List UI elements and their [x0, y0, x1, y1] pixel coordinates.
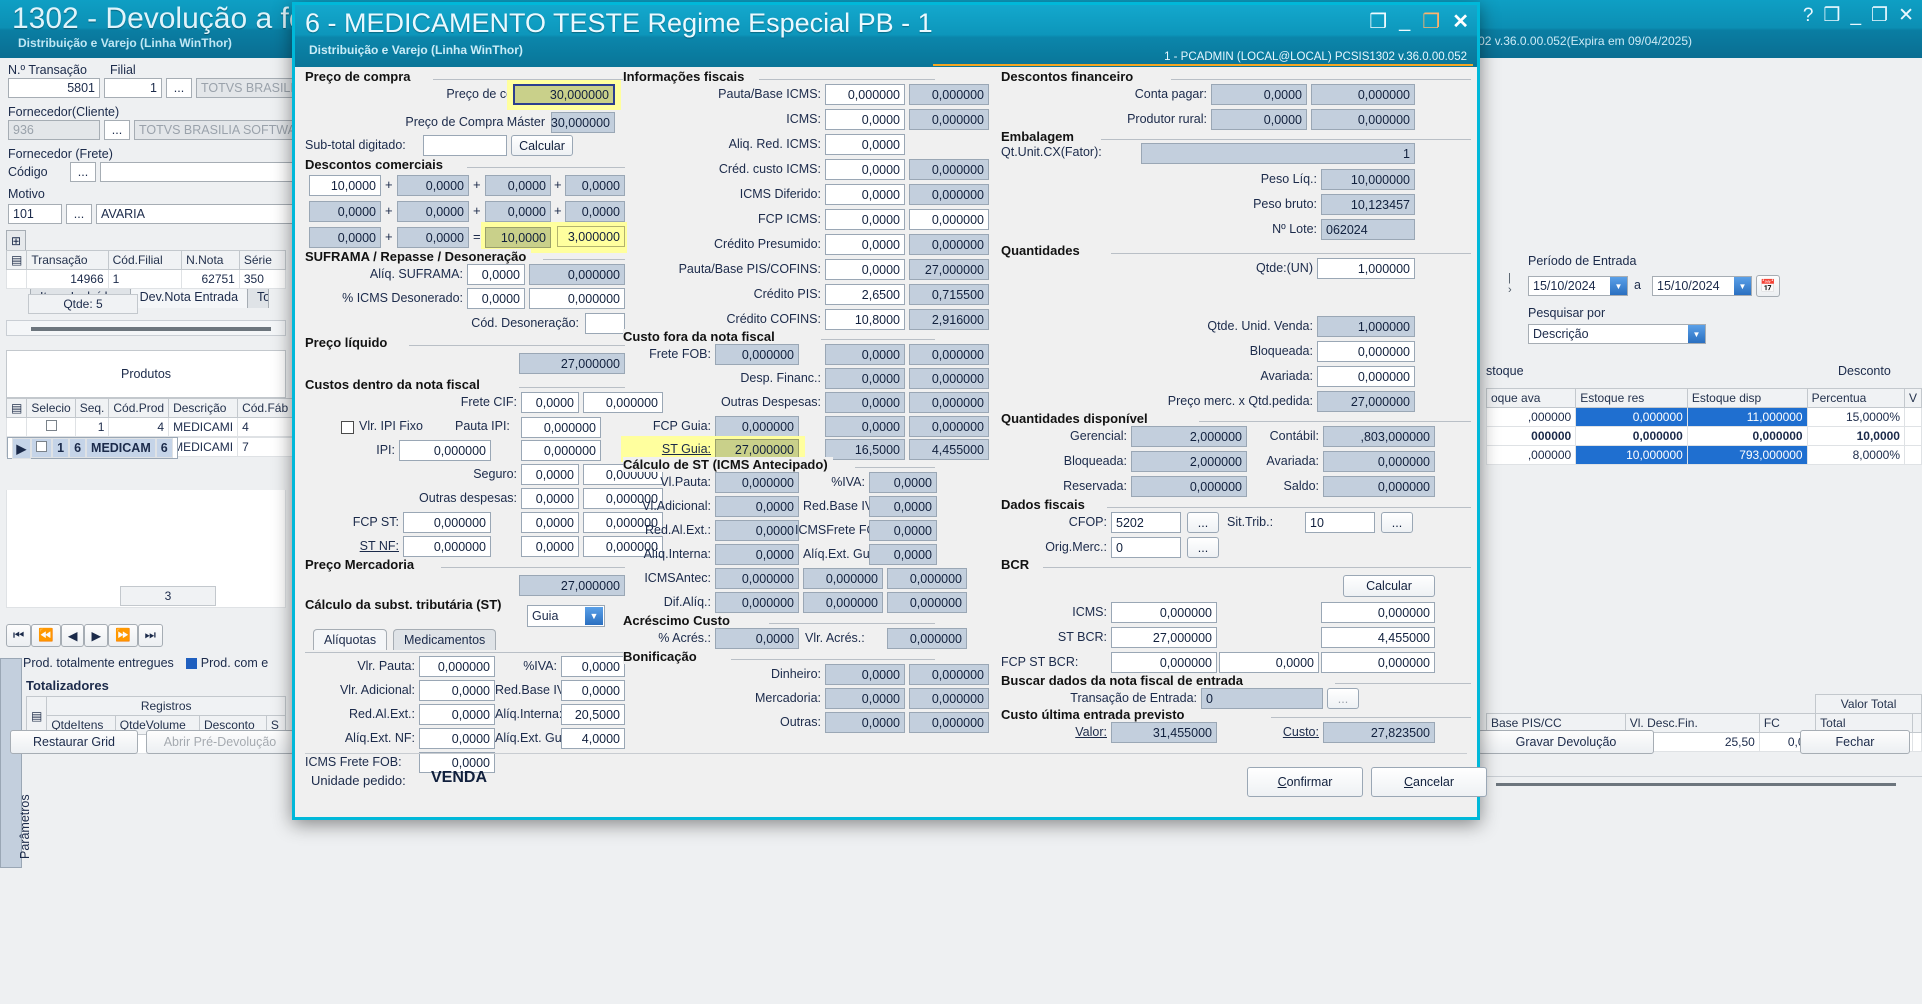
- table-row[interactable]: ,000000 10,000000 793,000000 8,0000%: [1487, 446, 1922, 465]
- transacao-entrada-label: Transação de Entrada:: [1001, 691, 1197, 705]
- if-v2-7: 27,000000: [909, 259, 989, 280]
- estoque-group-label: stoque: [1486, 364, 1524, 378]
- cell-descricao: MEDICAM: [86, 438, 156, 458]
- close-icon[interactable]: ✕: [1898, 4, 1914, 27]
- if-v1-2[interactable]: 0,0000: [825, 134, 905, 155]
- nota-grid[interactable]: ▤ Transação Cód.Filial N.Nota Série 1496…: [6, 250, 286, 289]
- cell-estoque-ava: ,000000: [1487, 446, 1576, 465]
- icmsantec-v2: 0,000000: [803, 568, 883, 589]
- table-header-row: Valor Total: [1487, 695, 1922, 714]
- tab-medicamentos[interactable]: Medicamentos: [393, 629, 496, 650]
- pesquisar-por-select[interactable]: Descrição: [1528, 324, 1706, 344]
- ipi-v1[interactable]: 0,000000: [399, 440, 491, 461]
- cell-cod-prod: 6: [69, 438, 86, 458]
- desconto-3-2: 0,0000: [397, 227, 469, 248]
- produtos-grid[interactable]: ▤ Selecio Seq. Cód.Prod Descrição Cód.Fá…: [6, 398, 293, 457]
- restaurar-grid-button[interactable]: Restaurar Grid: [10, 730, 138, 754]
- frete-fob-label: Frete FOB:: [623, 347, 711, 361]
- dif-aliq-v2: 0,000000: [803, 592, 883, 613]
- vl-adicional-value: 0,0000: [715, 496, 799, 517]
- title-underline: [933, 64, 1473, 66]
- st-guia-label[interactable]: ST Guia:: [627, 442, 711, 456]
- desconto-3-4: 3,000000: [557, 226, 625, 247]
- if-v2-0: 0,000000: [909, 84, 989, 105]
- st-guia-v3: 4,455000: [909, 439, 989, 460]
- cfop-lookup-button[interactable]: ...: [1187, 512, 1219, 533]
- modal-title: 6 - MEDICAMENTO TESTE Regime Especial PB…: [305, 8, 933, 39]
- plus-sign: +: [385, 229, 393, 244]
- confirmar-button[interactable]: Confirmar: [1247, 767, 1363, 797]
- preco-liquido-value: 27,000000: [519, 353, 625, 374]
- modal-body: Preço de compra Preço de compra: 30,0000…: [295, 67, 1477, 817]
- desconto-3-3: 10,0000: [485, 227, 551, 248]
- background-window-buttons: ? ❒ _ ❐ ✕: [1803, 4, 1914, 27]
- if-label-3: Créd. custo ICMS:: [623, 162, 821, 176]
- cell-estoque-disp: 793,000000: [1687, 446, 1807, 465]
- grid-menu-icon[interactable]: ⊞: [6, 230, 26, 252]
- table-row[interactable]: ▶ 1 6 MEDICAM 6: [7, 437, 178, 459]
- col-registros: Registros: [47, 697, 286, 716]
- if-label-4: ICMS Diferido:: [623, 187, 821, 201]
- codigo-label: Código: [8, 164, 48, 179]
- cell-n-nota: 62751: [182, 270, 240, 289]
- peso-liq-label: Peso Líq.:: [1155, 172, 1317, 186]
- dinheiro-label: Dinheiro:: [665, 667, 821, 681]
- if-v2-8: 0,715500: [909, 284, 989, 305]
- table-row[interactable]: 1 4 MEDICAMI 4: [7, 418, 293, 437]
- product-detail-modal: 6 - MEDICAMENTO TESTE Regime Especial PB…: [292, 2, 1480, 820]
- qt-unit-cx-value: 1: [1141, 143, 1415, 164]
- nota-qtde-label: Qtde: 5: [28, 294, 138, 314]
- desconto-2-3: 0,0000: [485, 201, 551, 222]
- if-v2-5[interactable]: 0,000000: [909, 209, 989, 230]
- outras-despesas-fora-label: Outras Despesas:: [655, 395, 821, 409]
- if-v2-1: 0,000000: [909, 109, 989, 130]
- plus-sign: +: [473, 177, 481, 192]
- bcr-fcp-st-v1[interactable]: 0,000000: [1111, 652, 1217, 673]
- outras-bonif-v1: 0,0000: [825, 712, 905, 733]
- periodo-from-dropdown-icon[interactable]: ▼: [1610, 277, 1627, 295]
- qd-avariada-value: 0,000000: [1323, 451, 1435, 472]
- iva-antec-label: %IVA:: [803, 475, 865, 489]
- row-handle-header: ▤: [27, 697, 47, 735]
- if-v1-9[interactable]: 10,8000: [825, 309, 905, 330]
- dinheiro-v1: 0,0000: [825, 664, 905, 685]
- cell-checkbox[interactable]: [31, 438, 52, 458]
- cell-checkbox[interactable]: [27, 418, 75, 437]
- if-v1-3[interactable]: 0,0000: [825, 159, 905, 180]
- aliq-interna-label: Alíq.Interna:: [495, 707, 562, 721]
- filial-field[interactable]: 1: [104, 78, 162, 98]
- vlr-acres-label: Vlr. Acrés.:: [805, 631, 865, 645]
- col-extra: [1913, 714, 1922, 733]
- icmsantec-label: ICMSAntec:: [613, 571, 711, 585]
- fechar-button[interactable]: Fechar: [1800, 730, 1910, 754]
- cell-extra: [1913, 733, 1922, 752]
- col-serie[interactable]: Série: [239, 251, 285, 270]
- cell-cod-fab: 6: [156, 438, 173, 458]
- aliq-ext-guia-value[interactable]: 4,0000: [561, 728, 625, 749]
- orig-merc-input[interactable]: 0: [1111, 537, 1181, 558]
- peso-liq-value: 10,000000: [1321, 169, 1415, 190]
- frete-cif-v1[interactable]: 0,0000: [521, 392, 579, 413]
- outras-despesas-label: Outras despesas:: [337, 491, 517, 505]
- bcr-icms-v1[interactable]: 0,000000: [1111, 602, 1217, 623]
- red-al-ext-label: Red.Al.Ext.:: [305, 707, 415, 721]
- col-v[interactable]: V: [1904, 389, 1921, 408]
- desconto-1-1[interactable]: 10,0000: [309, 175, 381, 196]
- motivo-field[interactable]: 101: [8, 204, 62, 224]
- st-guia-v2: 16,5000: [825, 439, 905, 460]
- produtor-rural-label: Produtor rural:: [1011, 112, 1207, 126]
- if-label-2: Aliq. Red. ICMS:: [623, 137, 821, 151]
- row-handle: [7, 270, 27, 289]
- vl-pauta-value: 0,000000: [715, 472, 799, 493]
- plus-sign: +: [385, 177, 393, 192]
- qd-saldo-label: Saldo:: [1251, 479, 1319, 493]
- fcp-guia-v3: 0,000000: [909, 416, 989, 437]
- fcp-st-v1[interactable]: 0,000000: [403, 512, 491, 533]
- calcular-subtotal-button[interactable]: Calcular: [511, 135, 573, 156]
- sidebar-tab-parametros[interactable]: Parâmetros: [0, 658, 22, 868]
- bcr-fcp-st-v2[interactable]: 0,0000: [1219, 652, 1319, 673]
- help-icon[interactable]: ?: [1803, 5, 1814, 27]
- desconto-3-1: 0,0000: [309, 227, 381, 248]
- outras-bonif-label: Outras:: [665, 715, 821, 729]
- if-v1-4[interactable]: 0,0000: [825, 184, 905, 205]
- cfop-label: CFOP:: [1001, 515, 1107, 529]
- n-lote-value: 062024: [1321, 219, 1415, 240]
- produtor-rural-v2: 0,000000: [1311, 109, 1415, 130]
- custo-valor-label[interactable]: Valor:: [1001, 725, 1107, 739]
- motivo-label: Motivo: [8, 186, 45, 201]
- vlr-adicional-label: Vlr. Adicional:: [305, 683, 415, 697]
- table-header-row: ▤ Transação Cód.Filial N.Nota Série: [7, 251, 286, 270]
- maximize-icon[interactable]: ❐: [1871, 4, 1888, 27]
- st-nf-v1[interactable]: 0,000000: [403, 536, 491, 557]
- custo-custo-label[interactable]: Custo:: [1225, 725, 1319, 739]
- bcr-icms-label: ICMS:: [1001, 605, 1107, 619]
- periodo-a-label: a: [1634, 278, 1641, 292]
- icms-desonerado-v2[interactable]: 0,000000: [529, 288, 625, 309]
- aliq-suframa-v2: 0,000000: [529, 264, 625, 285]
- background-window-subtitle: Distribuição e Varejo (Linha WinThor): [18, 36, 232, 50]
- red-al-ext-antec-label: Red.Al.Ext.:: [623, 523, 711, 537]
- seguro-v1[interactable]: 0,0000: [521, 464, 579, 485]
- red-al-ext-antec-value: 0,0000: [715, 520, 799, 541]
- col-estoque-disp[interactable]: Estoque disp: [1687, 389, 1807, 408]
- modal-status-right: 1 - PCADMIN (LOCAL@LOCAL) PCSIS1302 v.36…: [1164, 51, 1467, 63]
- pesquisar-por-dropdown-icon[interactable]: ▼: [1688, 325, 1705, 343]
- iva-antec-value: 0,0000: [869, 472, 937, 493]
- cell-descricao: MEDICAMI: [169, 418, 238, 437]
- aliq-ext-nf-value[interactable]: 0,0000: [419, 728, 495, 749]
- if-label-6: Crédito Presumido:: [623, 237, 821, 251]
- if-v1-7[interactable]: 0,0000: [825, 259, 905, 280]
- bcr-st-v2[interactable]: 4,455000: [1321, 627, 1435, 648]
- col-seq[interactable]: Seq.: [75, 399, 109, 418]
- cell-seq: 1: [52, 438, 69, 458]
- qd-saldo-value: 0,000000: [1323, 476, 1435, 497]
- red-al-ext-value[interactable]: 0,0000: [419, 704, 495, 725]
- row-handle-header: ▤: [7, 399, 27, 418]
- cell-estoque-disp: 11,000000: [1687, 408, 1807, 427]
- col-percentual[interactable]: Percentua: [1807, 389, 1904, 408]
- col-cod-prod[interactable]: Cód.Prod: [109, 399, 169, 418]
- icmsantec-v3: 0,000000: [887, 568, 967, 589]
- row-handle: [7, 418, 27, 437]
- if-v1-1[interactable]: 0,0000: [825, 109, 905, 130]
- modal-subtitle: Distribuição e Varejo (Linha WinThor): [309, 43, 523, 57]
- if-label-9: Crédito COFINS:: [623, 312, 821, 326]
- footer-divider: [305, 753, 1467, 754]
- transacao-entrada-input[interactable]: 0: [1201, 688, 1323, 709]
- vlr-pauta-label: Vlr. Pauta:: [305, 659, 415, 673]
- equals-sign: =: [473, 229, 481, 244]
- qtde-un-input[interactable]: 1,000000: [1317, 258, 1415, 279]
- pauta-ipi-value[interactable]: 0,000000: [521, 417, 601, 438]
- tab-totalizadores[interactable]: Totalizadores: [247, 286, 269, 308]
- frete-cif-v2[interactable]: 0,000000: [583, 392, 663, 413]
- totalizadores-title: Totalizadores: [26, 678, 109, 693]
- row-handle: ▶: [12, 438, 32, 459]
- plus-sign: +: [473, 203, 481, 218]
- abrir-pre-devolucao-button[interactable]: Abrir Pré-Devolução: [146, 730, 294, 754]
- custo-custo-value: 27,823500: [1323, 722, 1435, 743]
- qd-reservada-value: 0,000000: [1131, 476, 1247, 497]
- pesquisar-por-label: Pesquisar por: [1528, 306, 1605, 320]
- vlr-pauta-value[interactable]: 0,000000: [419, 656, 495, 677]
- icms-desonerado-v1[interactable]: 0,0000: [467, 288, 525, 309]
- sit-trib-lookup-button[interactable]: ...: [1381, 512, 1413, 533]
- if-v1-8[interactable]: 2,6500: [825, 284, 905, 305]
- nav-next-page-button[interactable]: ⏩: [108, 624, 138, 647]
- cell-percentual: 10,0000: [1807, 427, 1904, 446]
- qtde-un-label: Qtde:(UN): [1175, 261, 1313, 275]
- qd-gerencial-label: Gerencial:: [1001, 429, 1127, 443]
- col-estoque-res[interactable]: Estoque res: [1576, 389, 1688, 408]
- preco-compra-master-value: 30,000000: [551, 112, 615, 133]
- nota-scrollbar[interactable]: [6, 320, 286, 336]
- filial-label: Filial: [110, 62, 136, 77]
- maximize-icon[interactable]: ❐: [1422, 9, 1440, 34]
- motivo-lookup-button[interactable]: ...: [66, 204, 92, 224]
- orig-merc-label: Orig.Merc.:: [1001, 540, 1107, 554]
- desconto-1-3: 0,0000: [485, 175, 551, 196]
- col-estoque-ava[interactable]: oque ava: [1487, 389, 1576, 408]
- col-cod-fab[interactable]: Cód.Fáb: [238, 399, 293, 418]
- restore-icon[interactable]: ❒: [1369, 9, 1387, 34]
- fcp-st-v2[interactable]: 0,0000: [521, 512, 579, 533]
- legend-blue-swatch: [186, 658, 197, 669]
- col-valor-total-group: Valor Total: [1816, 695, 1922, 714]
- cell-estoque-disp: 0,000000: [1687, 427, 1807, 446]
- peso-bruto-value: 10,123457: [1321, 194, 1415, 215]
- calendar-icon[interactable]: 📅: [1756, 275, 1780, 297]
- cell-percentual: 15,0000%: [1807, 408, 1904, 427]
- sit-trib-input[interactable]: 10: [1305, 512, 1375, 533]
- record-navigator[interactable]: ⏮ ⏪ ◀ ▶ ⏩ ⏭: [6, 624, 163, 647]
- ntransacao-field[interactable]: 5801: [8, 78, 100, 98]
- frete-fob-v1: 0,000000: [715, 344, 799, 365]
- desp-financ-v2: 0,000000: [909, 368, 989, 389]
- produtos-header: Produtos: [6, 350, 286, 398]
- qd-bloqueada-value: 2,000000: [1131, 451, 1247, 472]
- n-lote-label: Nº Lote:: [1155, 222, 1317, 236]
- subtotal-label: Sub-total digitado:: [305, 138, 406, 152]
- qd-avariada-label: Avariada:: [1251, 454, 1319, 468]
- acres-label: % Acrés.:: [623, 631, 711, 645]
- table-header-row: ▤ Selecio Seq. Cód.Prod Descrição Cód.Fá…: [7, 399, 293, 418]
- calculo-st-select[interactable]: Guia ▼: [527, 605, 605, 627]
- vlr-acres-value: 0,000000: [887, 628, 967, 649]
- plus-sign: +: [554, 203, 562, 218]
- nav-prev-page-button[interactable]: ⏪: [31, 624, 61, 647]
- preco-compra-input[interactable]: 30,000000: [513, 84, 615, 105]
- qd-reservada-label: Reservada:: [1001, 479, 1127, 493]
- table-row[interactable]: ,000000 0,000000 11,000000 15,0000%: [1487, 408, 1922, 427]
- minimize-icon[interactable]: _: [1850, 5, 1861, 27]
- iva-value[interactable]: 0,0000: [561, 656, 625, 677]
- frete-cif-label: Frete CIF:: [355, 395, 517, 409]
- nav-first-button[interactable]: ⏮: [6, 624, 31, 647]
- aliq-suframa-v1[interactable]: 0,0000: [467, 264, 525, 285]
- mercadoria-label: Mercadoria:: [665, 691, 821, 705]
- red-base-iva-antec-value: 0,0000: [869, 496, 937, 517]
- if-label-5: FCP ICMS:: [623, 212, 821, 226]
- aliq-suframa-label: Alíq. SUFRAMA:: [315, 267, 463, 281]
- cell-cod-fab: 7: [238, 438, 293, 457]
- qt-unit-cx-label: Qt.Unit.CX(Fator):: [1001, 145, 1102, 159]
- vlr-adicional-value[interactable]: 0,0000: [419, 680, 495, 701]
- dif-aliq-v1: 0,000000: [715, 592, 799, 613]
- if-v1-5[interactable]: 0,0000: [825, 209, 905, 230]
- if-label-8: Crédito PIS:: [623, 287, 821, 301]
- outras-despesas-v1[interactable]: 0,0000: [521, 488, 579, 509]
- cell-estoque-ava: ,000000: [1487, 408, 1576, 427]
- if-v2-3: 0,000000: [909, 159, 989, 180]
- if-label-1: ICMS:: [623, 112, 821, 126]
- fornecedor-frete-label: Fornecedor (Frete): [8, 146, 113, 161]
- codigo-lookup-button[interactable]: ...: [70, 162, 96, 182]
- restore-icon[interactable]: ❒: [1823, 4, 1840, 27]
- desconto-1-2: 0,0000: [397, 175, 469, 196]
- table-row[interactable]: 000000 0,000000 0,000000 10,0000: [1487, 427, 1922, 446]
- chevron-down-icon[interactable]: ▼: [585, 607, 603, 625]
- qtde-avariada-label: Avariada:: [1135, 369, 1313, 383]
- table-row[interactable]: 14966 1 62751 350: [7, 270, 286, 289]
- col-transacao[interactable]: Transação: [27, 251, 108, 270]
- fcp-st-label: FCP ST:: [305, 515, 399, 529]
- col-selecionar[interactable]: Selecio: [27, 399, 75, 418]
- vlr-ipi-fixo-checkbox[interactable]: [341, 421, 354, 434]
- dif-aliq-v3: 0,000000: [887, 592, 967, 613]
- periodo-collapse-icon[interactable]: |›: [1508, 254, 1524, 314]
- orig-merc-lookup-button[interactable]: ...: [1187, 537, 1219, 558]
- unidade-pedido-value: VENDA: [431, 769, 487, 787]
- gravar-devolucao-button[interactable]: Gravar Devolução: [1478, 730, 1654, 754]
- qd-bloqueada-label: Bloqueada:: [1001, 454, 1127, 468]
- fornecedor-cliente-lookup-button[interactable]: ...: [104, 120, 130, 140]
- pauta-ipi-label: Pauta IPI:: [455, 419, 510, 433]
- qtde-unid-venda-label: Qtde. Unid. Venda:: [1135, 319, 1313, 333]
- st-nf-v2[interactable]: 0,0000: [521, 536, 579, 557]
- col-descricao[interactable]: Descrição: [169, 399, 238, 418]
- preco-compra-master-label: Preço de Compra Máster: [365, 115, 545, 129]
- col-n-nota[interactable]: N.Nota: [182, 251, 240, 270]
- minimize-icon[interactable]: _: [1399, 10, 1410, 33]
- plus-sign: +: [385, 203, 393, 218]
- cod-desoneracao-input[interactable]: [585, 313, 625, 334]
- fcp-guia-v1: 0,000000: [715, 416, 799, 437]
- cfop-input[interactable]: 5202: [1111, 512, 1181, 533]
- cell-estoque-res: 10,000000: [1576, 446, 1688, 465]
- if-v1-6[interactable]: 0,0000: [825, 234, 905, 255]
- red-base-iva-value[interactable]: 0,0000: [561, 680, 625, 701]
- outras-bonif-v2: 0,000000: [909, 712, 989, 733]
- nav-last-button[interactable]: ⏭: [138, 624, 163, 647]
- conta-pagar-label: Conta pagar:: [1011, 87, 1207, 101]
- qtde-unid-venda-value: 1,000000: [1317, 316, 1415, 337]
- tab-aliquotas[interactable]: Alíquotas: [313, 629, 387, 650]
- aliq-interna-value[interactable]: 20,5000: [561, 704, 625, 725]
- produtor-rural-v1: 0,0000: [1211, 109, 1307, 130]
- transacao-entrada-lookup-button[interactable]: ...: [1327, 688, 1359, 709]
- bcr-st-v1[interactable]: 27,000000: [1111, 627, 1217, 648]
- cell-estoque-res: 0,000000: [1576, 408, 1688, 427]
- nav-prev-button[interactable]: ◀: [61, 624, 85, 647]
- bcr-fcp-st-v3[interactable]: 0,000000: [1321, 652, 1435, 673]
- subtotal-input[interactable]: [423, 135, 507, 156]
- aliq-ext-guia-antec-value: 0,0000: [869, 544, 937, 565]
- dinheiro-v2: 0,000000: [909, 664, 989, 685]
- seguro-label: Seguro:: [375, 467, 517, 481]
- st-nf-label[interactable]: ST NF:: [305, 539, 399, 553]
- qtde-avariada-input[interactable]: 0,000000: [1317, 366, 1415, 387]
- periodo-to-dropdown-icon[interactable]: ▼: [1734, 277, 1751, 295]
- estoque-grid[interactable]: oque ava Estoque res Estoque disp Percen…: [1486, 388, 1922, 465]
- desconto-group-label: Desconto: [1838, 364, 1891, 378]
- bcr-calcular-button[interactable]: Calcular: [1343, 575, 1435, 597]
- right-scrollbar[interactable]: [1486, 776, 1922, 790]
- fornecedor-cliente-code-field[interactable]: 936: [8, 120, 100, 140]
- fcp-guia-label: FCP Guia:: [623, 419, 711, 433]
- cell-v: [1904, 408, 1921, 427]
- cell-v: [1904, 427, 1921, 446]
- col-cod-filial[interactable]: Cód.Filial: [108, 251, 182, 270]
- preco-mercadoria-value: 27,000000: [519, 575, 625, 596]
- table-header-row: ▤ Registros: [27, 697, 286, 716]
- tab-dev-nota-entrada[interactable]: Dev.Nota Entrada: [130, 286, 248, 308]
- legend-entregues: Prod. totalmente entregues Prod. com e: [8, 656, 268, 670]
- nav-next-button[interactable]: ▶: [84, 624, 108, 647]
- conta-pagar-v1: 0,0000: [1211, 84, 1307, 105]
- bcr-icms-v2[interactable]: 0,000000: [1321, 602, 1435, 623]
- desp-financ-label: Desp. Financ.:: [665, 371, 821, 385]
- icms-desonerado-label: % ICMS Desonerado:: [305, 291, 463, 305]
- outras-despesas-fora-v2: 0,000000: [909, 392, 989, 413]
- filial-lookup-button[interactable]: ...: [166, 78, 192, 98]
- ipi-v2[interactable]: 0,000000: [521, 440, 601, 461]
- cancelar-button[interactable]: Cancelar: [1371, 767, 1487, 797]
- table-header-row: oque ava Estoque res Estoque disp Percen…: [1487, 389, 1922, 408]
- qd-gerencial-value: 2,000000: [1131, 426, 1247, 447]
- qtde-bloqueada-input[interactable]: 0,000000: [1317, 341, 1415, 362]
- cell-v: [1904, 446, 1921, 465]
- close-icon[interactable]: ✕: [1452, 9, 1469, 34]
- if-v1-0[interactable]: 0,000000: [825, 84, 905, 105]
- ntransacao-label: N.º Transação: [8, 62, 87, 77]
